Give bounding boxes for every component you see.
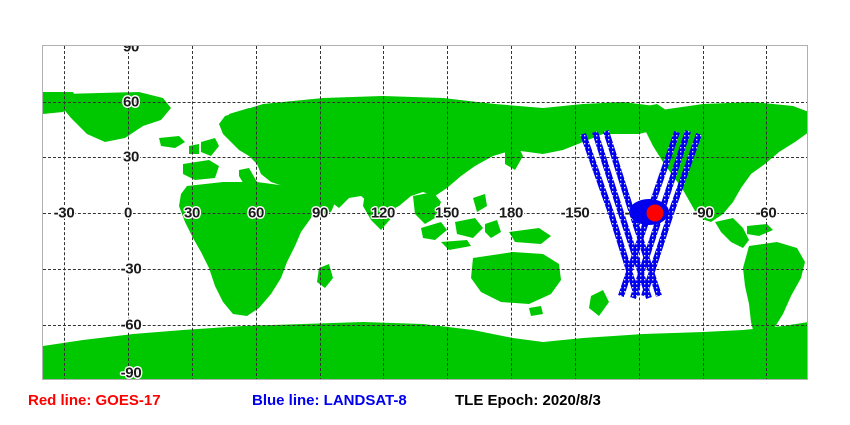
legend-tle-epoch: TLE Epoch: 2020/8/3: [455, 392, 601, 409]
lat-label-30: 30: [123, 149, 139, 166]
lat-label-0: 0: [124, 205, 132, 222]
iceland: [159, 136, 185, 148]
sulawesi: [485, 220, 501, 238]
gridline-lat--30: [43, 269, 808, 270]
central-america: [715, 218, 749, 248]
lon-label--150: -150: [561, 205, 590, 222]
lat-label--90: -90: [121, 365, 142, 381]
gridline-lat-60: [43, 102, 808, 103]
lat-label--30: -30: [121, 261, 142, 278]
continents: [43, 92, 808, 380]
iberia: [183, 160, 219, 180]
lon-label--30: -30: [54, 205, 75, 222]
lon-label-120: 120: [371, 205, 395, 222]
lon-label-60: 60: [248, 205, 264, 222]
lat-label-60: 60: [123, 94, 139, 111]
satellite-tracking-map: -30 0 30 60 90 120 150 180 -150 -120 -90…: [0, 0, 850, 425]
philippines: [473, 194, 487, 212]
legend-landsat8: Blue line: LANDSAT-8: [252, 392, 407, 409]
new-guinea: [509, 228, 551, 244]
world-map: -30 0 30 60 90 120 150 180 -150 -120 -90…: [42, 45, 808, 380]
lat-label-90: 90: [123, 45, 139, 56]
lon-label-180: 180: [499, 205, 523, 222]
goes17-position-marker[interactable]: [647, 205, 664, 222]
gridline-lat--60: [43, 325, 808, 326]
caribbean: [747, 224, 773, 236]
tasmania: [529, 306, 543, 316]
borneo: [455, 218, 483, 238]
legend-goes17: Red line: GOES-17: [28, 392, 161, 409]
africa: [179, 182, 315, 316]
north-america: [645, 102, 808, 222]
lat-label--60: -60: [121, 317, 142, 334]
australia: [471, 252, 561, 304]
lon-label-150: 150: [435, 205, 459, 222]
lon-label-90: 90: [312, 205, 328, 222]
legend: Red line: GOES-17 Blue line: LANDSAT-8 T…: [0, 388, 850, 418]
sumatra: [421, 222, 447, 240]
british-isles: [201, 138, 219, 156]
lon-label--60: -60: [756, 205, 777, 222]
lon-label-30: 30: [184, 205, 200, 222]
java: [441, 240, 471, 250]
antarctica: [43, 322, 808, 380]
new-zealand: [589, 290, 609, 316]
ireland: [189, 144, 199, 154]
lon-label--90: -90: [693, 205, 714, 222]
gridline-lat-30: [43, 157, 808, 158]
